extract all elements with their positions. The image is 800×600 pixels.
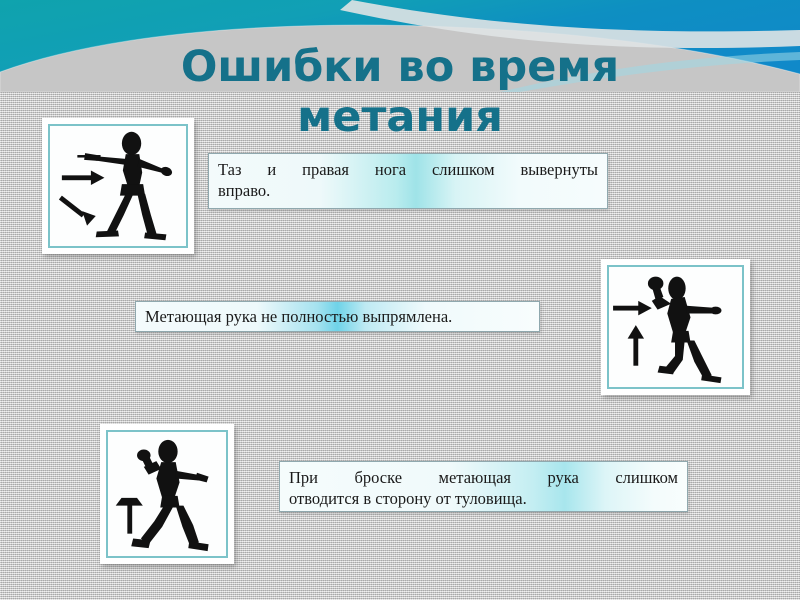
figure-arm-away-from-torso-icon xyxy=(106,430,228,558)
caption-1-line-1: Таз и правая нога слишком вывернуты xyxy=(218,159,598,180)
caption-box-1: Таз и правая нога слишком вывернутывправ… xyxy=(208,153,608,209)
picture-frame-3 xyxy=(100,424,234,564)
figure-hips-and-right-leg-icon xyxy=(48,124,188,248)
caption-3-line-2: отводится в сторону от туловища. xyxy=(289,489,527,508)
caption-2-line-1: Метающая рука не полностью выпрямлена. xyxy=(145,307,452,326)
caption-box-3: При броске метающая рука слишкомотводитс… xyxy=(279,461,688,512)
picture-frame-2 xyxy=(601,259,750,395)
presentation-slide: Ошибки во время метания xyxy=(0,0,800,600)
picture-frame-1 xyxy=(42,118,194,254)
caption-3-line-1: При броске метающая рука слишком xyxy=(289,467,678,488)
figure-throwing-arm-not-extended-icon xyxy=(607,265,744,389)
caption-1-line-2: вправо. xyxy=(218,181,270,200)
caption-box-2: Метающая рука не полностью выпрямлена. xyxy=(135,301,540,332)
